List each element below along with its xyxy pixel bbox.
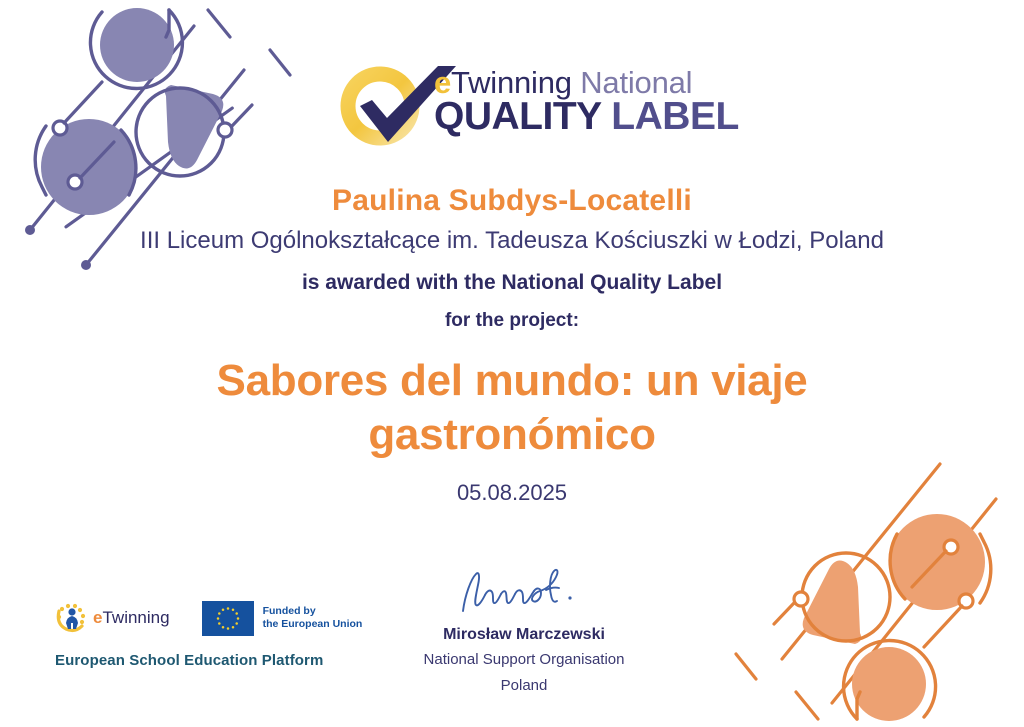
logo-label-text: LABEL [601, 95, 739, 138]
signer-name: Mirosław Marczewski [354, 623, 694, 647]
award-statement: is awarded with the National Quality Lab… [0, 268, 1024, 298]
quality-label-logo-block: eTwinning National QUALITY LABEL [0, 55, 1024, 165]
logo-line-quality-label: QUALITY LABEL [434, 96, 739, 138]
recipient-school: III Liceum Ogólnokształcące im. Tadeusza… [0, 224, 1024, 258]
recipient-name: Paulina Subdys-Locatelli [0, 182, 1024, 220]
signature-block: Mirosław Marczewski National Support Org… [0, 565, 1024, 699]
award-date: 05.08.2025 [0, 478, 1024, 508]
certificate-page: eTwinning National QUALITY LABEL Paulina… [0, 0, 1024, 727]
logo-quality-text: QUALITY [434, 95, 601, 138]
handwritten-signature [449, 565, 599, 619]
for-the-project-label: for the project: [0, 307, 1024, 335]
signer-organisation: National Support Organisation [354, 647, 694, 673]
project-title: Sabores del mundo: un viaje gastronómico [0, 354, 1024, 462]
certificate-body: Paulina Subdys-Locatelli III Liceum Ogól… [0, 182, 1024, 508]
signer-country: Poland [354, 673, 694, 699]
